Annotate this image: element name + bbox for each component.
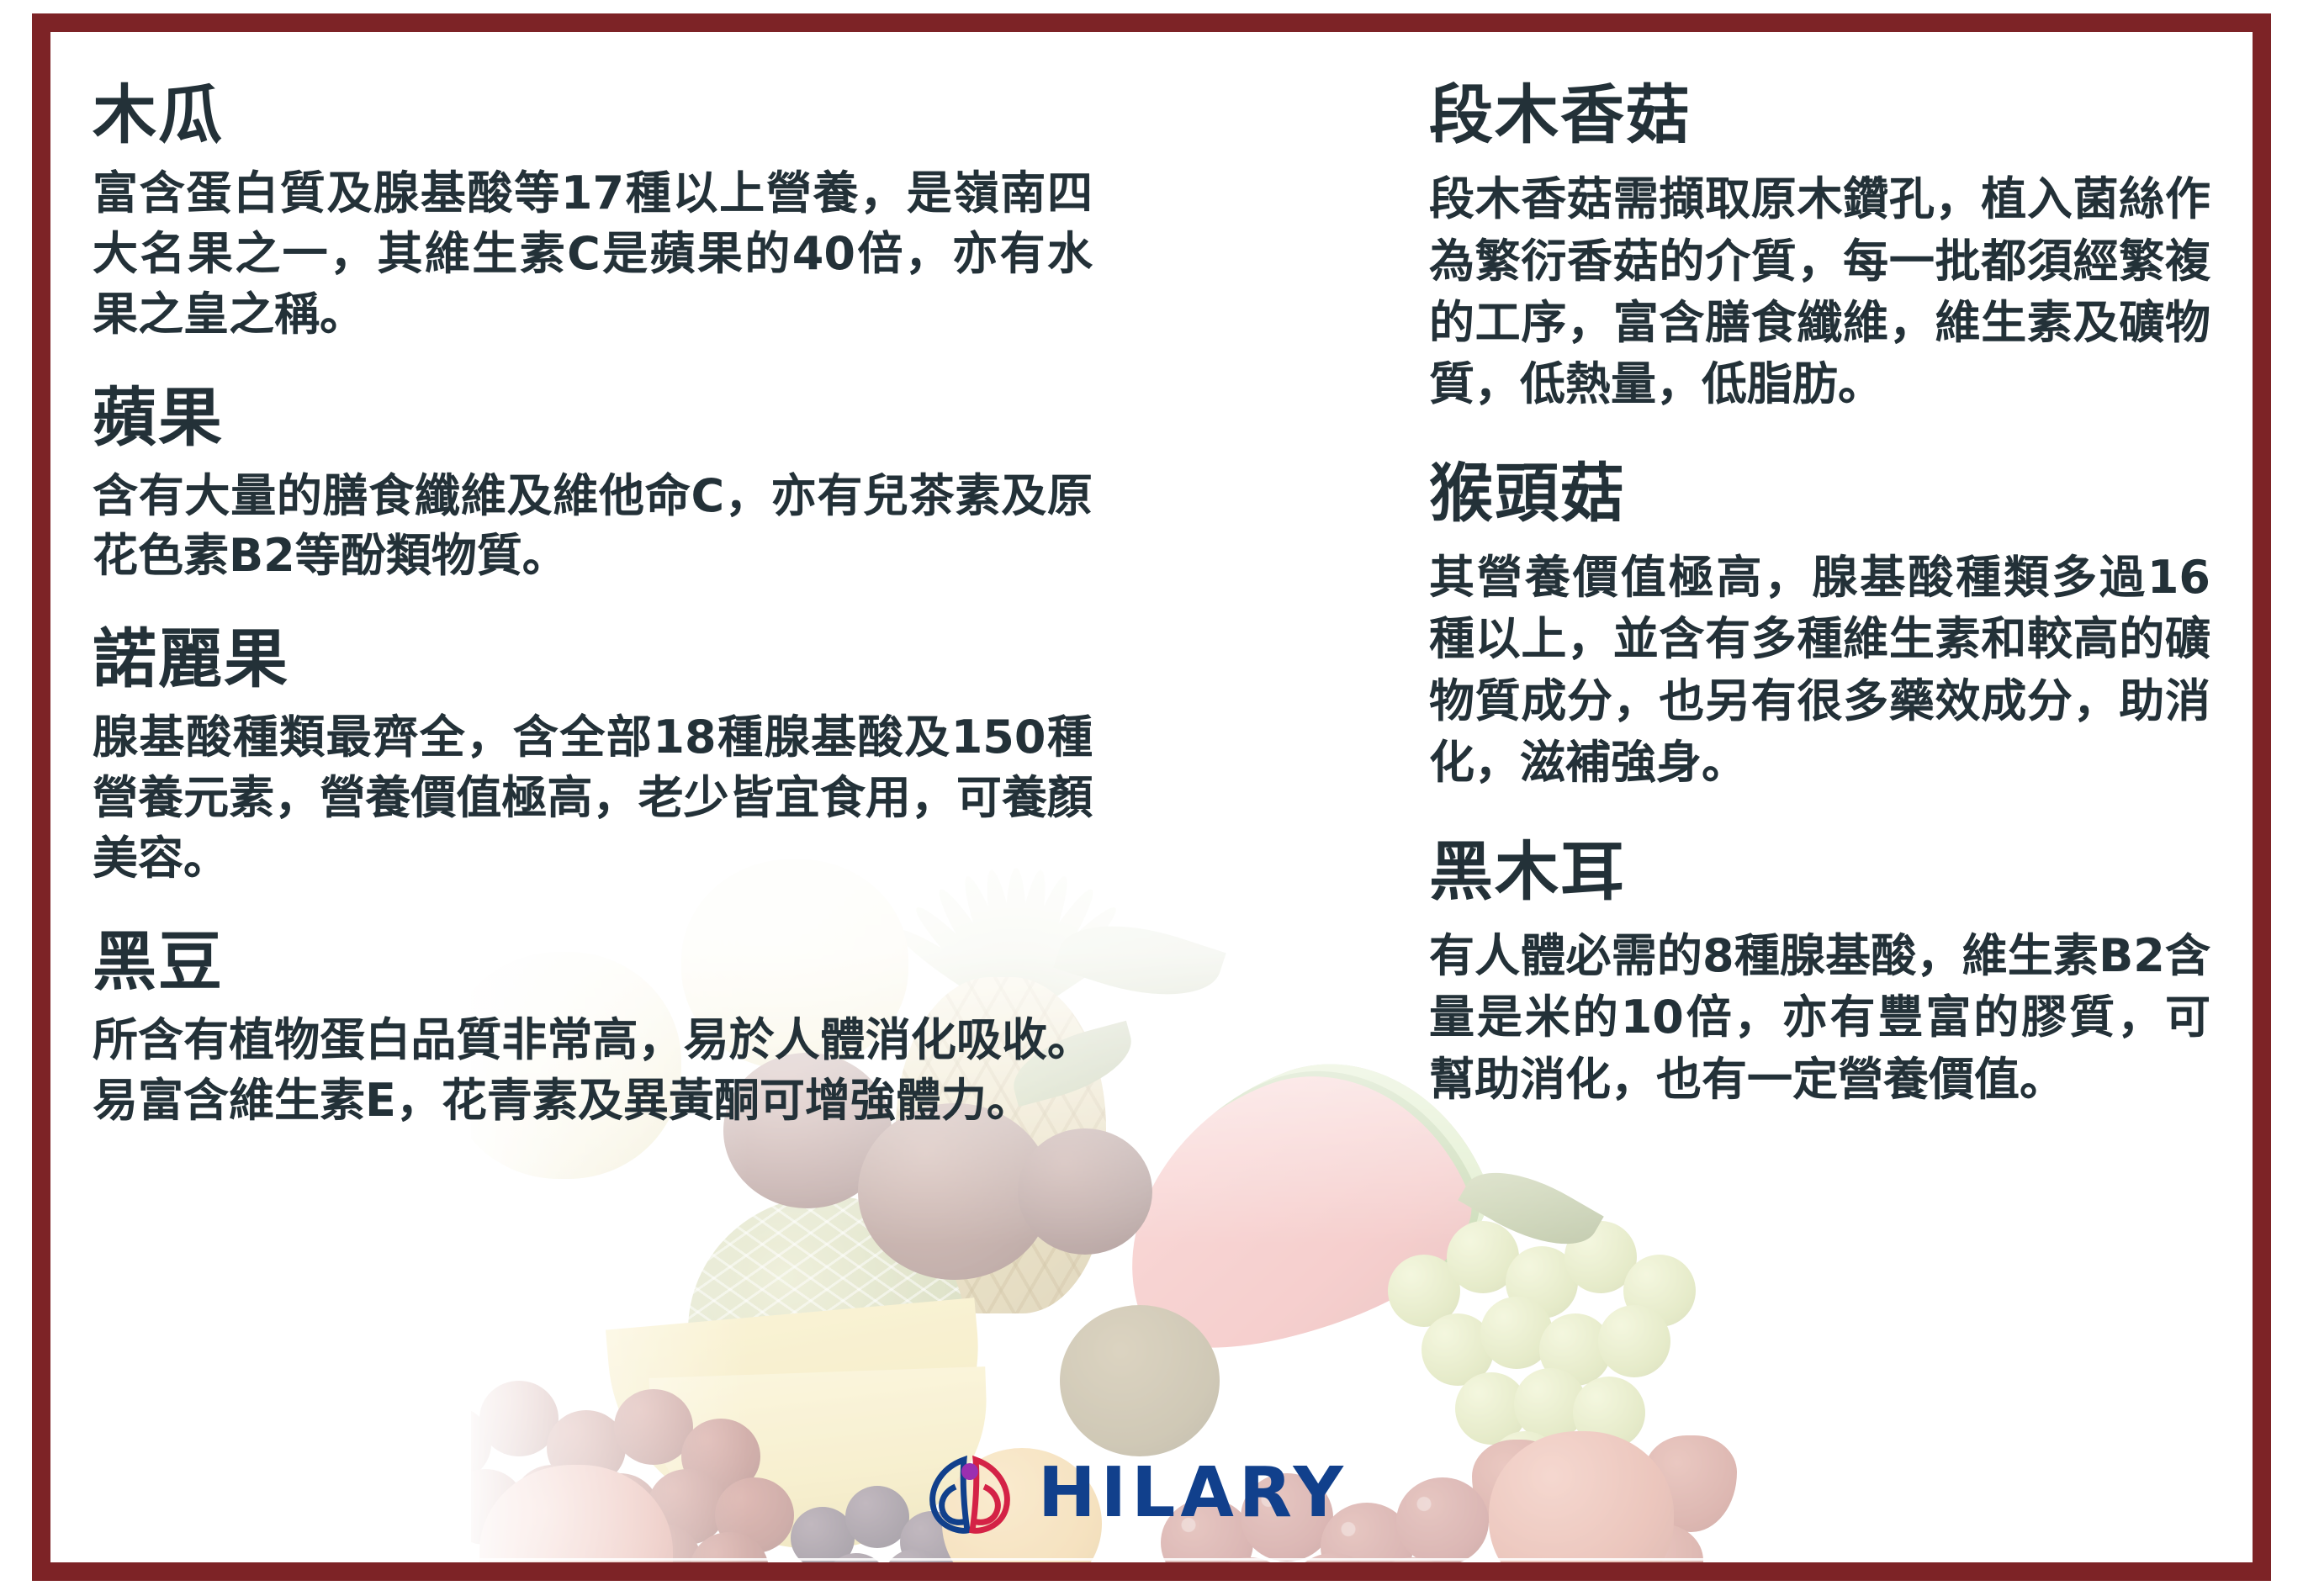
section-body: 所含有植物蛋白品質非常高，易於人體消化吸收。易富含維生素E，花青素及異黃酮可增強… bbox=[93, 1010, 1093, 1131]
brand-wordmark: HILARY bbox=[1038, 1459, 1348, 1528]
section-title: 蘋果 bbox=[93, 383, 1093, 452]
section-title: 猴頭菇 bbox=[1429, 459, 2210, 528]
section-title: 段木香菇 bbox=[1429, 81, 2210, 150]
section-body: 含有大量的膳食纖維及維他命C，亦有兒茶素及原花色素B2等酚類物質。 bbox=[93, 466, 1093, 587]
section-title: 黑木耳 bbox=[1429, 838, 2210, 906]
section-noni: 諾麗果 腺基酸種類最齊全，含全部18種腺基酸及150種營養元素，營養價值極高，老… bbox=[93, 625, 1093, 889]
section-body: 富含蛋白質及腺基酸等17種以上營養，是嶺南四大名果之一，其維生素C是蘋果的40倍… bbox=[93, 163, 1093, 344]
section-black-bean: 黑豆 所含有植物蛋白品質非常高，易於人體消化吸收。易富含維生素E，花青素及異黃酮… bbox=[93, 927, 1093, 1131]
section-lions-mane: 猴頭菇 其營養價值極高，腺基酸種類多過16種以上，並含有多種維生素和較高的礦物質… bbox=[1429, 459, 2210, 794]
section-title: 木瓜 bbox=[93, 81, 1093, 150]
section-log-shiitake: 段木香菇 段木香菇需擷取原木鑽孔，植入菌絲作為繁衍香菇的介質，每一批都須經繁複的… bbox=[1429, 81, 2210, 415]
hilary-leaf-mark-icon bbox=[922, 1450, 1016, 1537]
section-papaya: 木瓜 富含蛋白質及腺基酸等17種以上營養，是嶺南四大名果之一，其維生素C是蘋果的… bbox=[93, 81, 1093, 345]
poster-root: 木瓜 富含蛋白質及腺基酸等17種以上營養，是嶺南四大名果之一，其維生素C是蘋果的… bbox=[0, 0, 2303, 1596]
section-black-fungus: 黑木耳 有人體必需的8種腺基酸，維生素B2含量是米的10倍，亦有豐富的膠質，可幫… bbox=[1429, 838, 2210, 1110]
section-body: 段木香菇需擷取原木鑽孔，植入菌絲作為繁衍香菇的介質，每一批都須經繁複的工序，富含… bbox=[1429, 168, 2210, 415]
brand-logo: HILARY bbox=[922, 1450, 1348, 1537]
right-column: 段木香菇 段木香菇需擷取原木鑽孔，植入菌絲作為繁衍香菇的介質，每一批都須經繁複的… bbox=[1151, 81, 2210, 1596]
section-body: 腺基酸種類最齊全，含全部18種腺基酸及150種營養元素，營養價值極高，老少皆宜食… bbox=[93, 707, 1093, 888]
section-apple: 蘋果 含有大量的膳食纖維及維他命C，亦有兒茶素及原花色素B2等酚類物質。 bbox=[93, 383, 1093, 587]
left-column: 木瓜 富含蛋白質及腺基酸等17種以上營養，是嶺南四大名果之一，其維生素C是蘋果的… bbox=[93, 81, 1151, 1596]
section-body: 有人體必需的8種腺基酸，維生素B2含量是米的10倍，亦有豐富的膠質，可幫助消化，… bbox=[1429, 925, 2210, 1110]
section-title: 諾麗果 bbox=[93, 625, 1093, 694]
content-area: 木瓜 富含蛋白質及腺基酸等17種以上營養，是嶺南四大名果之一，其維生素C是蘋果的… bbox=[0, 0, 2303, 1596]
section-title: 黑豆 bbox=[93, 927, 1093, 996]
section-body: 其營養價值極高，腺基酸種類多過16種以上，並含有多種維生素和較高的礦物質成分，也… bbox=[1429, 547, 2210, 794]
